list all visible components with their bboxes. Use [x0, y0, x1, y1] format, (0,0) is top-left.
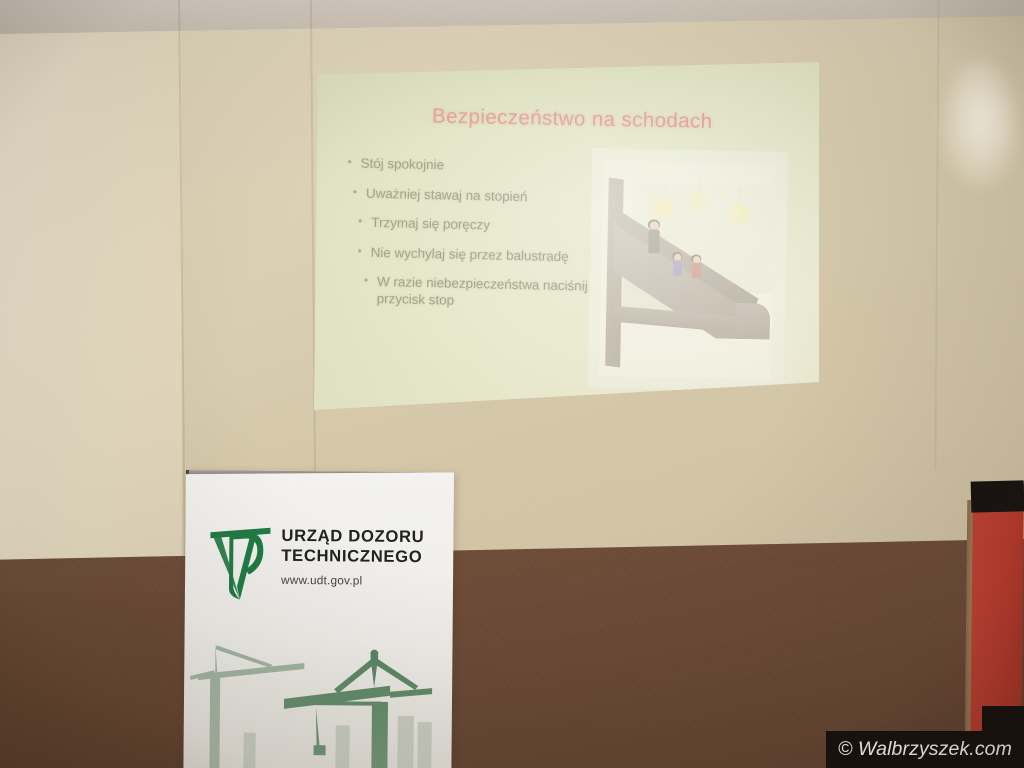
udt-website-url: www.udt.gov.pl [281, 573, 453, 589]
escalator-newel [736, 303, 771, 335]
escalator-illustration [588, 148, 789, 392]
tower-cranes-graphic [183, 628, 452, 768]
wall-light-glow-icon [940, 58, 1018, 188]
list-item: W razie niebezpieczeństwa naciśnij przyc… [364, 274, 594, 312]
red-panel-top-band [971, 480, 1024, 512]
watermark-bar: © Walbrzyszek.com [826, 731, 1024, 768]
list-item: Stój spokojnie [347, 155, 595, 177]
slide-title: Bezpieczeństwo na schodach [432, 105, 792, 136]
illustration-inner-frame [599, 160, 775, 379]
presentation-slide: Bezpieczeństwo na schodach Stój spokojni… [314, 62, 819, 410]
projection-screen: Bezpieczeństwo na schodach Stój spokojni… [314, 62, 819, 410]
list-item: Trzymaj się poręczy [358, 215, 594, 237]
list-item: Nie wychylaj się przez balustradę [358, 244, 594, 266]
udt-logo-icon [207, 522, 274, 601]
udt-name-line-1: URZĄD DOZORU [281, 526, 453, 548]
slide-bullet-list: Stój spokojnie Uważniej stawaj na stopie… [344, 155, 596, 324]
wall-dado-brown-left [0, 592, 190, 768]
watermark-text: © Walbrzyszek.com [838, 738, 1012, 761]
udt-org-name: URZĄD DOZORU TECHNICZNEGO www.udt.gov.pl [281, 526, 454, 588]
list-item: Uważniej stawaj na stopień [353, 185, 595, 207]
rider-body [672, 260, 681, 276]
photo-scene: Bezpieczeństwo na schodach Stój spokojni… [0, 0, 1024, 768]
rider-body [691, 263, 700, 279]
rollup-banner: URZĄD DOZORU TECHNICZNEGO www.udt.gov.pl [183, 470, 454, 768]
rider-body [648, 229, 659, 253]
udt-name-line-2: TECHNICZNEGO [281, 546, 453, 568]
wall-left-return [0, 0, 182, 600]
